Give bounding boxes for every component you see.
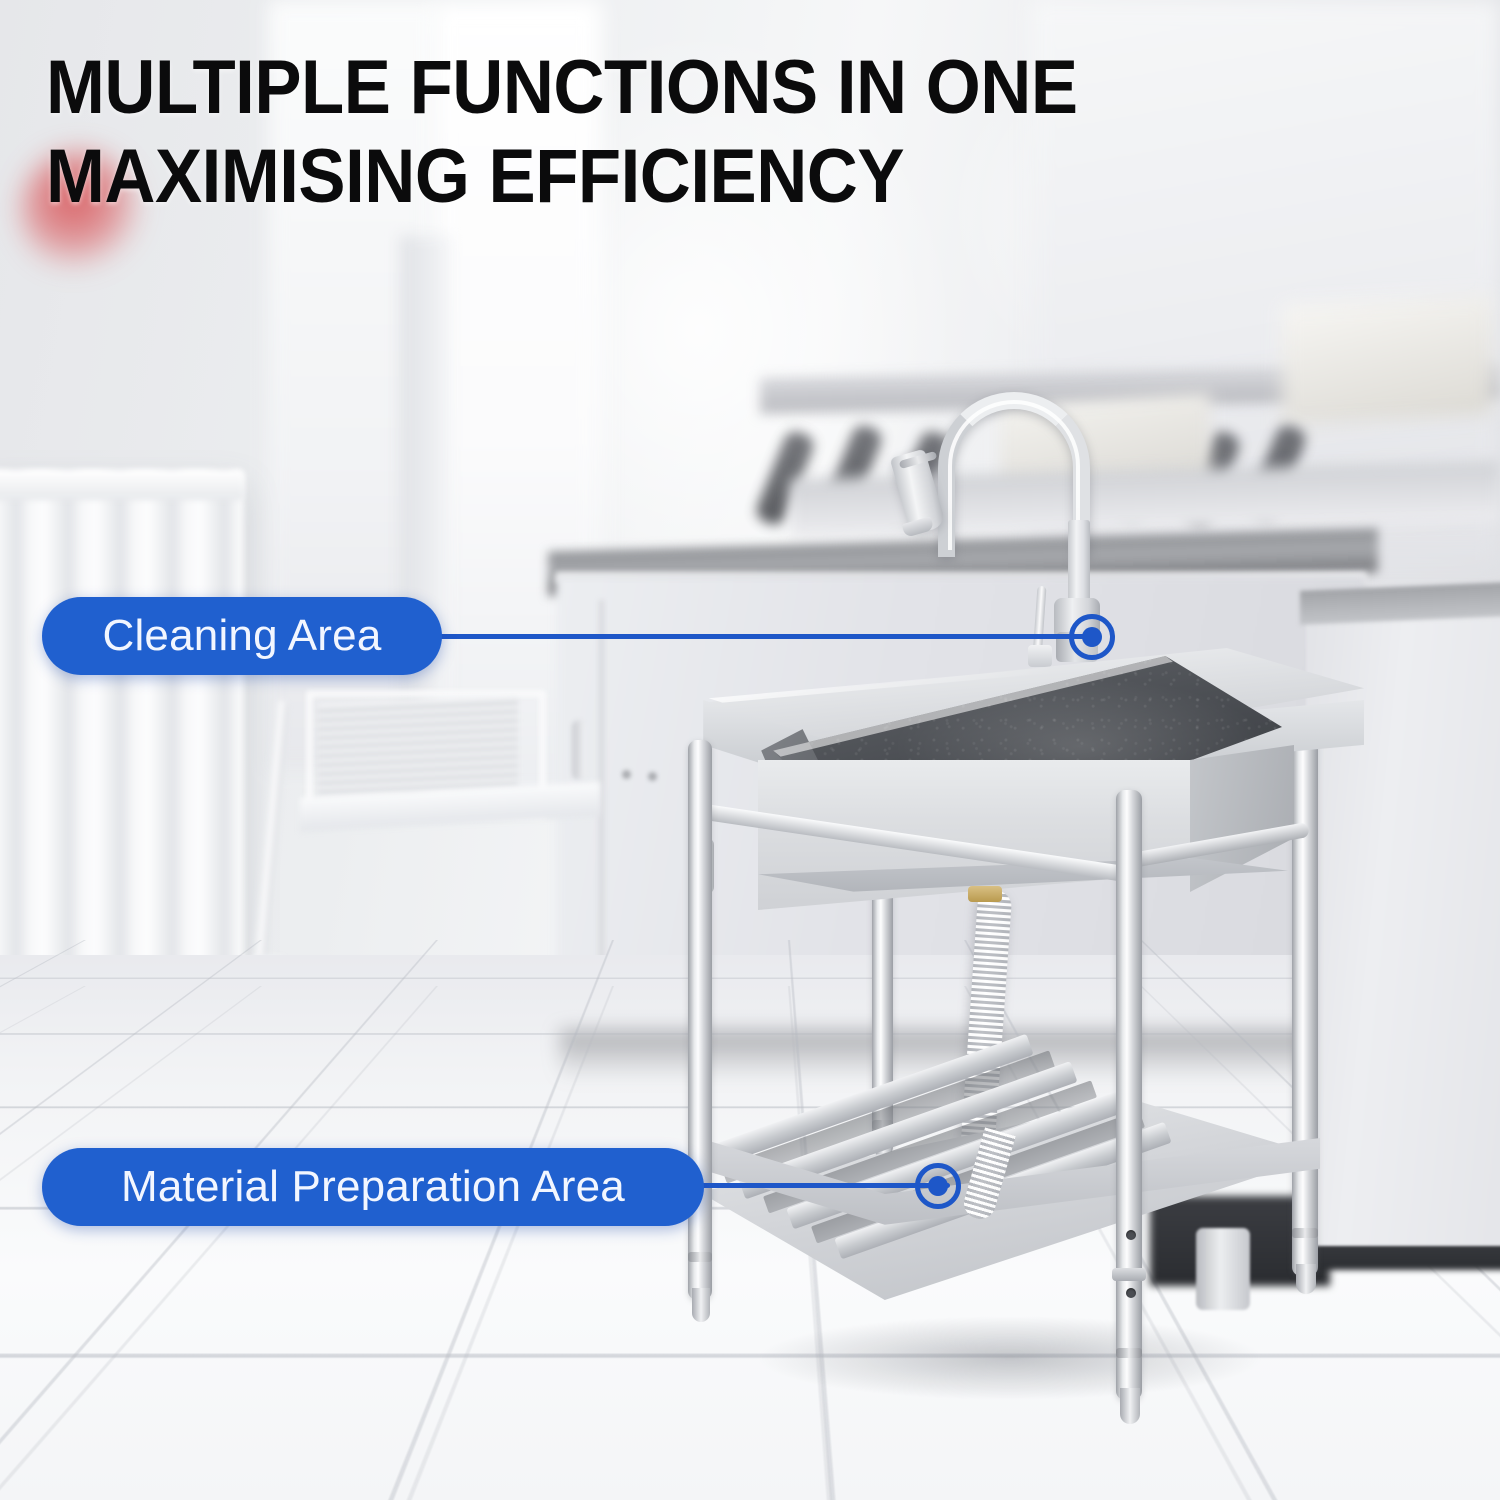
leg-foot: [1120, 1388, 1140, 1424]
callout-target-marker-cleaning-area: [1069, 614, 1115, 660]
leg-adjuster-bolt: [1112, 1268, 1146, 1281]
callout-pill-cleaning-area[interactable]: Cleaning Area: [42, 597, 442, 675]
target-dot-icon: [928, 1176, 948, 1196]
faucet-lever-joint: [1028, 645, 1052, 667]
leg-foot: [1296, 1264, 1316, 1294]
sink-leg-front-left: [688, 740, 712, 1300]
headline-line-2: MAXIMISING EFFICIENCY: [46, 133, 1255, 222]
callout-label-material-preparation-area: Material Preparation Area: [121, 1162, 625, 1212]
leg-ring: [1116, 1348, 1142, 1358]
callout-leader-line-cleaning-area: [400, 634, 1100, 639]
leg-ring: [688, 1252, 712, 1262]
leg-adjust-hole: [1126, 1288, 1136, 1298]
headline: MULTIPLE FUNCTIONS IN ONE MAXIMISING EFF…: [46, 44, 1255, 222]
product-ground-shadow: [660, 1298, 1360, 1418]
sink-leg-back-right: [1292, 736, 1318, 1276]
product-infographic: MULTIPLE FUNCTIONS IN ONE MAXIMISING EFF…: [0, 0, 1500, 1500]
leg-ring: [1292, 1228, 1318, 1238]
headline-line-1: MULTIPLE FUNCTIONS IN ONE: [46, 44, 1255, 133]
faucet-highlight: [948, 400, 1080, 550]
target-dot-icon: [1082, 627, 1102, 647]
leg-adjust-hole: [1126, 1230, 1136, 1240]
leg-foot: [692, 1288, 710, 1322]
sink-leg-front-right: [1116, 790, 1142, 1400]
stainless-steel-sink-product: [0, 0, 1500, 1500]
callout-label-cleaning-area: Cleaning Area: [102, 611, 381, 661]
callout-pill-material-preparation-area[interactable]: Material Preparation Area: [42, 1148, 704, 1226]
drain-hose-fitting: [968, 886, 1002, 902]
callout-target-marker-material-preparation-area: [915, 1163, 961, 1209]
